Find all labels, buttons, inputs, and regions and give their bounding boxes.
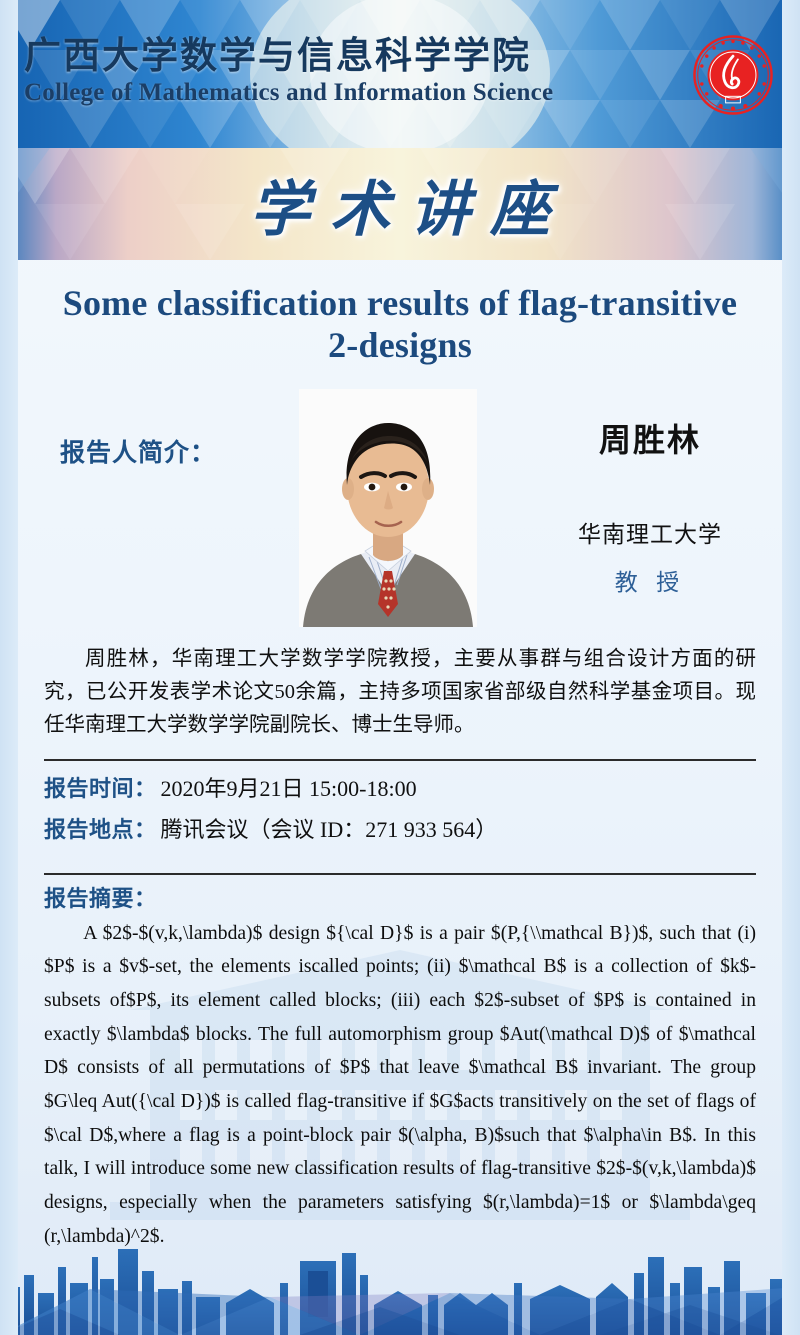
speaker-organization: 华南理工大学 (532, 515, 768, 549)
event-time-label: 报告时间： (44, 771, 157, 803)
abstract-section: 报告摘要： A $2$-$(v,k,\lambda)$ design ${\ca… (18, 875, 782, 1254)
header-titles: 广西大学数学与信息科学学院 College of Mathematics and… (24, 38, 553, 107)
event-time-value: 2020年9月21日 15:00-18:00 (161, 771, 417, 803)
university-name-cn: 广西大学数学与信息科学学院 (24, 38, 553, 77)
left-border-strip (0, 0, 18, 1335)
speaker-section: 报告人简介： (18, 375, 782, 627)
speaker-portrait-icon (299, 389, 477, 627)
speaker-bio: 周胜林，华南理工大学数学学院教授，主要从事群与组合设计方面的研究，已公开发表学术… (18, 627, 782, 747)
poster-header: 广西大学数学与信息科学学院 College of Mathematics and… (0, 0, 800, 148)
poster-root: 广西大学数学与信息科学学院 College of Mathematics and… (0, 0, 800, 1335)
speaker-name: 周胜林 (532, 415, 768, 461)
speaker-details: 周胜林 华南理工大学 教 授 (532, 389, 768, 597)
lecture-banner: 学术讲座 (0, 148, 800, 260)
talk-title: Some classification results of flag-tran… (18, 260, 782, 375)
event-time-row: 报告时间： 2020年9月21日 15:00-18:00 (44, 771, 756, 803)
speaker-photo (299, 389, 477, 627)
banner-title-text: 学术讲座 (0, 148, 800, 260)
city-skyline-graphic-icon (0, 1227, 800, 1335)
university-name-en: College of Mathematics and Information S… (24, 79, 553, 107)
university-seal-logo-icon (692, 34, 774, 116)
abstract-heading: 报告摘要： (44, 881, 756, 913)
event-place-value: 腾讯会议（会议 ID：271 933 564） (161, 812, 498, 844)
right-border-strip (782, 0, 800, 1335)
speaker-rank: 教 授 (532, 563, 768, 597)
event-info: 报告时间： 2020年9月21日 15:00-18:00 报告地点： 腾讯会议（… (18, 761, 782, 861)
poster-body: Some classification results of flag-tran… (0, 260, 800, 1253)
speaker-section-label: 报告人简介： (32, 389, 244, 469)
event-place-label: 报告地点： (44, 812, 157, 844)
abstract-text: A $2$-$(v,k,\lambda)$ design ${\cal D}$ … (44, 917, 756, 1254)
event-place-row: 报告地点： 腾讯会议（会议 ID：271 933 564） (44, 812, 756, 844)
